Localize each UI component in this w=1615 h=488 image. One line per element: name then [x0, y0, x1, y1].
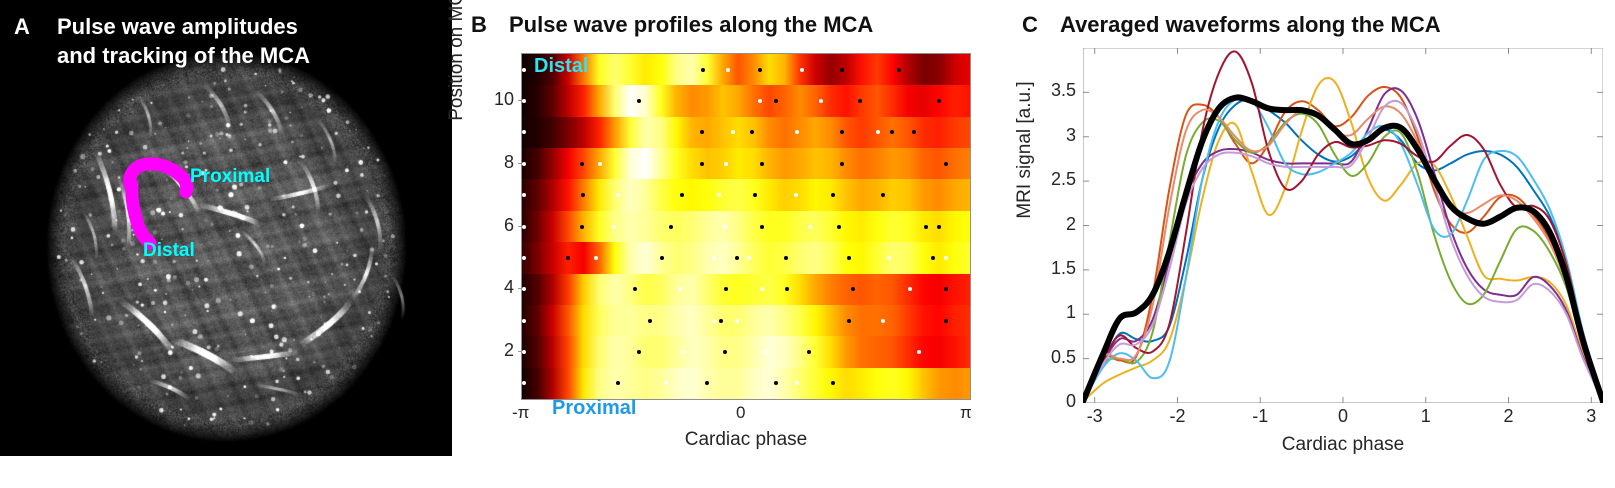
panel-a-title-line2: and tracking of the MCA [57, 41, 437, 70]
waveform-x-tick-label: 1 [1406, 406, 1446, 427]
heatmap-marker-dot [612, 225, 616, 229]
heatmap-marker-dot [897, 68, 901, 72]
waveform-y-tick-label: 3 [1030, 125, 1076, 146]
heatmap-marker-dot [840, 68, 844, 72]
waveform-y-tick-label: 0.5 [1030, 347, 1076, 368]
heatmap-marker-dot [944, 287, 948, 291]
heatmap-marker-dot [937, 225, 941, 229]
heatmap-row [522, 54, 970, 86]
heatmap-marker-dot [719, 319, 723, 323]
panel-b-title: Pulse wave profiles along the MCA [509, 12, 873, 38]
heatmap-marker-dot [717, 193, 721, 197]
heatmap-marker-dot [887, 256, 891, 260]
heatmap-marker-dot [937, 99, 941, 103]
waveform-x-tick-label: -1 [1240, 406, 1280, 427]
heatmap-marker-dot [700, 162, 704, 166]
waveform-line [1083, 97, 1603, 401]
heatmap-marker-dot [669, 225, 673, 229]
heatmap-marker-dot [784, 256, 788, 260]
heatmap-marker-dot [580, 162, 584, 166]
heatmap-marker-dot [753, 193, 757, 197]
heatmap-marker-dot [701, 68, 705, 72]
heatmap-marker-dot [774, 99, 778, 103]
heatmap-y-tick-label: 10 [480, 89, 514, 110]
heatmap-row [522, 242, 970, 274]
waveform-x-axis-label: Cardiac phase [1083, 434, 1603, 456]
panel-a: A Pulse wave amplitudes and tracking of … [0, 0, 452, 456]
waveform-y-tick-label: 3.5 [1030, 80, 1076, 101]
heatmap-marker-dot [616, 381, 620, 385]
label-proximal-a: Proximal [190, 166, 270, 188]
heatmap-marker-dot [747, 256, 751, 260]
heatmap-marker-dot [944, 256, 948, 260]
heatmap-marker-dot [924, 225, 928, 229]
waveform-x-tick-label: -3 [1075, 406, 1115, 427]
label-proximal-b: Proximal [552, 397, 636, 420]
heatmap-row [522, 179, 970, 211]
panel-a-title: Pulse wave amplitudes and tracking of th… [57, 12, 437, 70]
heatmap-marker-dot [723, 225, 727, 229]
heatmap-marker-dot [944, 319, 948, 323]
heatmap-marker-dot [800, 68, 804, 72]
heatmap-marker-dot [598, 162, 602, 166]
heatmap-marker-dot [931, 256, 935, 260]
waveform-y-tick-label: 1.5 [1030, 258, 1076, 279]
heatmap-x-tick-label: π [960, 403, 972, 423]
heatmap-row [522, 117, 970, 149]
heatmap-y-tick-label: 8 [480, 152, 514, 173]
mri-brain-image: A Pulse wave amplitudes and tracking of … [0, 0, 452, 456]
waveform-y-tick-label: 2.5 [1030, 169, 1076, 190]
heatmap-marker-dot [616, 193, 620, 197]
heatmap-x-tick-label: -π [512, 403, 529, 423]
waveform-svg [1083, 48, 1603, 403]
waveform-y-tick-label: 1 [1030, 302, 1076, 323]
waveform-x-tick-label: 3 [1571, 406, 1611, 427]
panel-c: C Averaged waveforms along the MCA 00.51… [1012, 0, 1615, 488]
waveform-y-tick-label: 0 [1030, 391, 1076, 412]
heatmap-marker-dot [760, 287, 764, 291]
heatmap-y-tick-label: 4 [480, 277, 514, 298]
heatmap-marker-dot [917, 350, 921, 354]
heatmap-marker-dot [837, 225, 841, 229]
heatmap-marker-dot [726, 68, 730, 72]
heatmap-marker-dot [723, 350, 727, 354]
waveform-x-tick-label: 0 [1323, 406, 1363, 427]
waveform-y-axis-label: MRI signal [a.u.] [1014, 0, 1036, 300]
waveform-y-tick-label: 2 [1030, 214, 1076, 235]
heatmap-marker-dot [637, 350, 641, 354]
waveform-plot-area [1083, 48, 1603, 403]
heatmap-marker-dot [660, 256, 664, 260]
heatmap-y-axis-label: Position on MCA [446, 0, 468, 150]
heatmap-marker-dot [808, 225, 812, 229]
heatmap-marker-dot [724, 162, 728, 166]
heatmap-marker-dot [819, 99, 823, 103]
heatmap-marker-dot [758, 68, 762, 72]
panel-a-title-line1: Pulse wave amplitudes [57, 12, 437, 41]
label-distal-b: Distal [534, 55, 588, 78]
figure-root: A Pulse wave amplitudes and tracking of … [0, 0, 1615, 488]
panel-a-letter: A [14, 14, 30, 40]
panel-b: B Pulse wave profiles along the MCA 2468… [452, 0, 1012, 488]
waveform-line [1083, 106, 1603, 401]
heatmap-row [522, 274, 970, 306]
heatmap-marker-dot [680, 193, 684, 197]
waveform-x-tick-label: -2 [1157, 406, 1197, 427]
heatmap-marker-dot [760, 162, 764, 166]
heatmap-row [522, 211, 970, 243]
heatmap-marker-dot [712, 319, 716, 323]
heatmap-x-tick-label: 0 [736, 403, 745, 423]
heatmap-x-axis-label: Cardiac phase [521, 429, 971, 451]
heatmap-marker-dot [881, 193, 885, 197]
heatmap-marker-dot [712, 256, 716, 260]
heatmap-row [522, 336, 970, 368]
heatmap-marker-dot [794, 193, 798, 197]
waveform-x-tick-label: 2 [1489, 406, 1529, 427]
heatmap-row [522, 305, 970, 337]
heatmap-row [522, 148, 970, 180]
heatmap-marker-dot [807, 350, 811, 354]
panel-c-title: Averaged waveforms along the MCA [1060, 12, 1441, 38]
heatmap-row [522, 85, 970, 117]
heatmap-marker-dot [944, 162, 948, 166]
heatmap-marker-dot [648, 319, 652, 323]
heatmap-y-tick-label: 6 [480, 215, 514, 236]
heatmap-plot-area [521, 53, 971, 400]
heatmap-marker-dot [881, 319, 885, 323]
label-distal-a: Distal [143, 240, 195, 262]
heatmap-marker-dot [566, 256, 570, 260]
heatmap-marker-dot [580, 225, 584, 229]
heatmap-row [522, 368, 970, 400]
heatmap-marker-dot [764, 350, 768, 354]
panel-b-letter: B [471, 12, 487, 38]
heatmap-y-tick-label: 2 [480, 340, 514, 361]
heatmap-marker-dot [760, 225, 764, 229]
